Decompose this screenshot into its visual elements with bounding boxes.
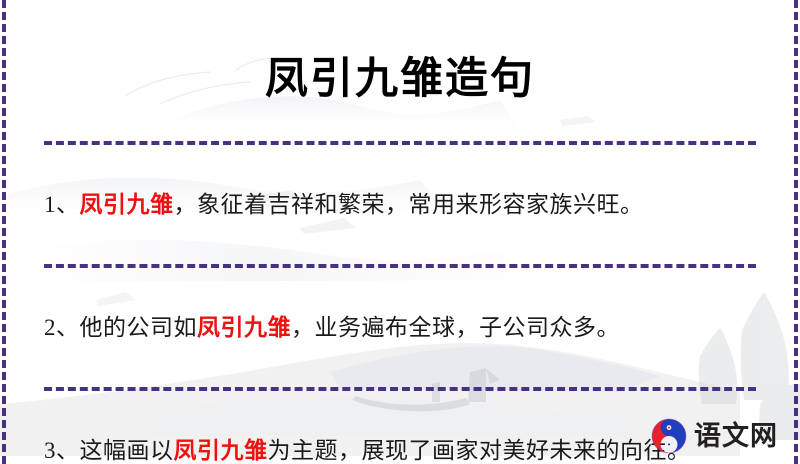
keyword-highlight-1: 凤引九雏 [80,192,174,217]
document-page: 凤引九雏造句 1、凤引九雏，象征着吉祥和繁荣，常用来形容家族兴旺。 2、他的公司… [0,0,800,464]
yinyang-circle-icon [651,418,687,454]
frame-border-left [2,0,6,464]
keyword-highlight-3: 凤引九雏 [174,438,268,463]
brand-watermark: 语文网 [651,418,778,454]
page-title: 凤引九雏造句 [18,29,782,112]
content-column: 凤引九雏造句 1、凤引九雏，象征着吉祥和繁荣，常用来形容家族兴旺。 2、他的公司… [0,29,800,464]
sentence-number-1: 1、 [44,192,80,217]
divider-rule-3 [44,387,756,391]
sentence-item-2: 2、他的公司如凤引九雏，业务遍布全球，子公司众多。 [18,291,782,364]
sentence-suffix-2: ，业务遍布全球，子公司众多。 [291,315,620,340]
sentence-prefix-2: 他的公司如 [80,315,198,340]
keyword-highlight-2: 凤引九雏 [197,315,291,340]
sentence-prefix-3: 这幅画以 [80,438,174,463]
frame-border-right [794,0,798,464]
brand-name: 语文网 [694,423,778,450]
sentence-suffix-1: ，象征着吉祥和繁荣，常用来形容家族兴旺。 [174,192,644,217]
sentence-number-3: 3、 [44,438,80,463]
sentence-item-1: 1、凤引九雏，象征着吉祥和繁荣，常用来形容家族兴旺。 [18,168,782,241]
divider-rule-1 [44,141,756,145]
divider-rule-2 [44,264,756,268]
sentence-number-2: 2、 [44,315,80,340]
sentence-suffix-3: 为主题，展现了画家对美好未来的向往。 [268,438,691,463]
